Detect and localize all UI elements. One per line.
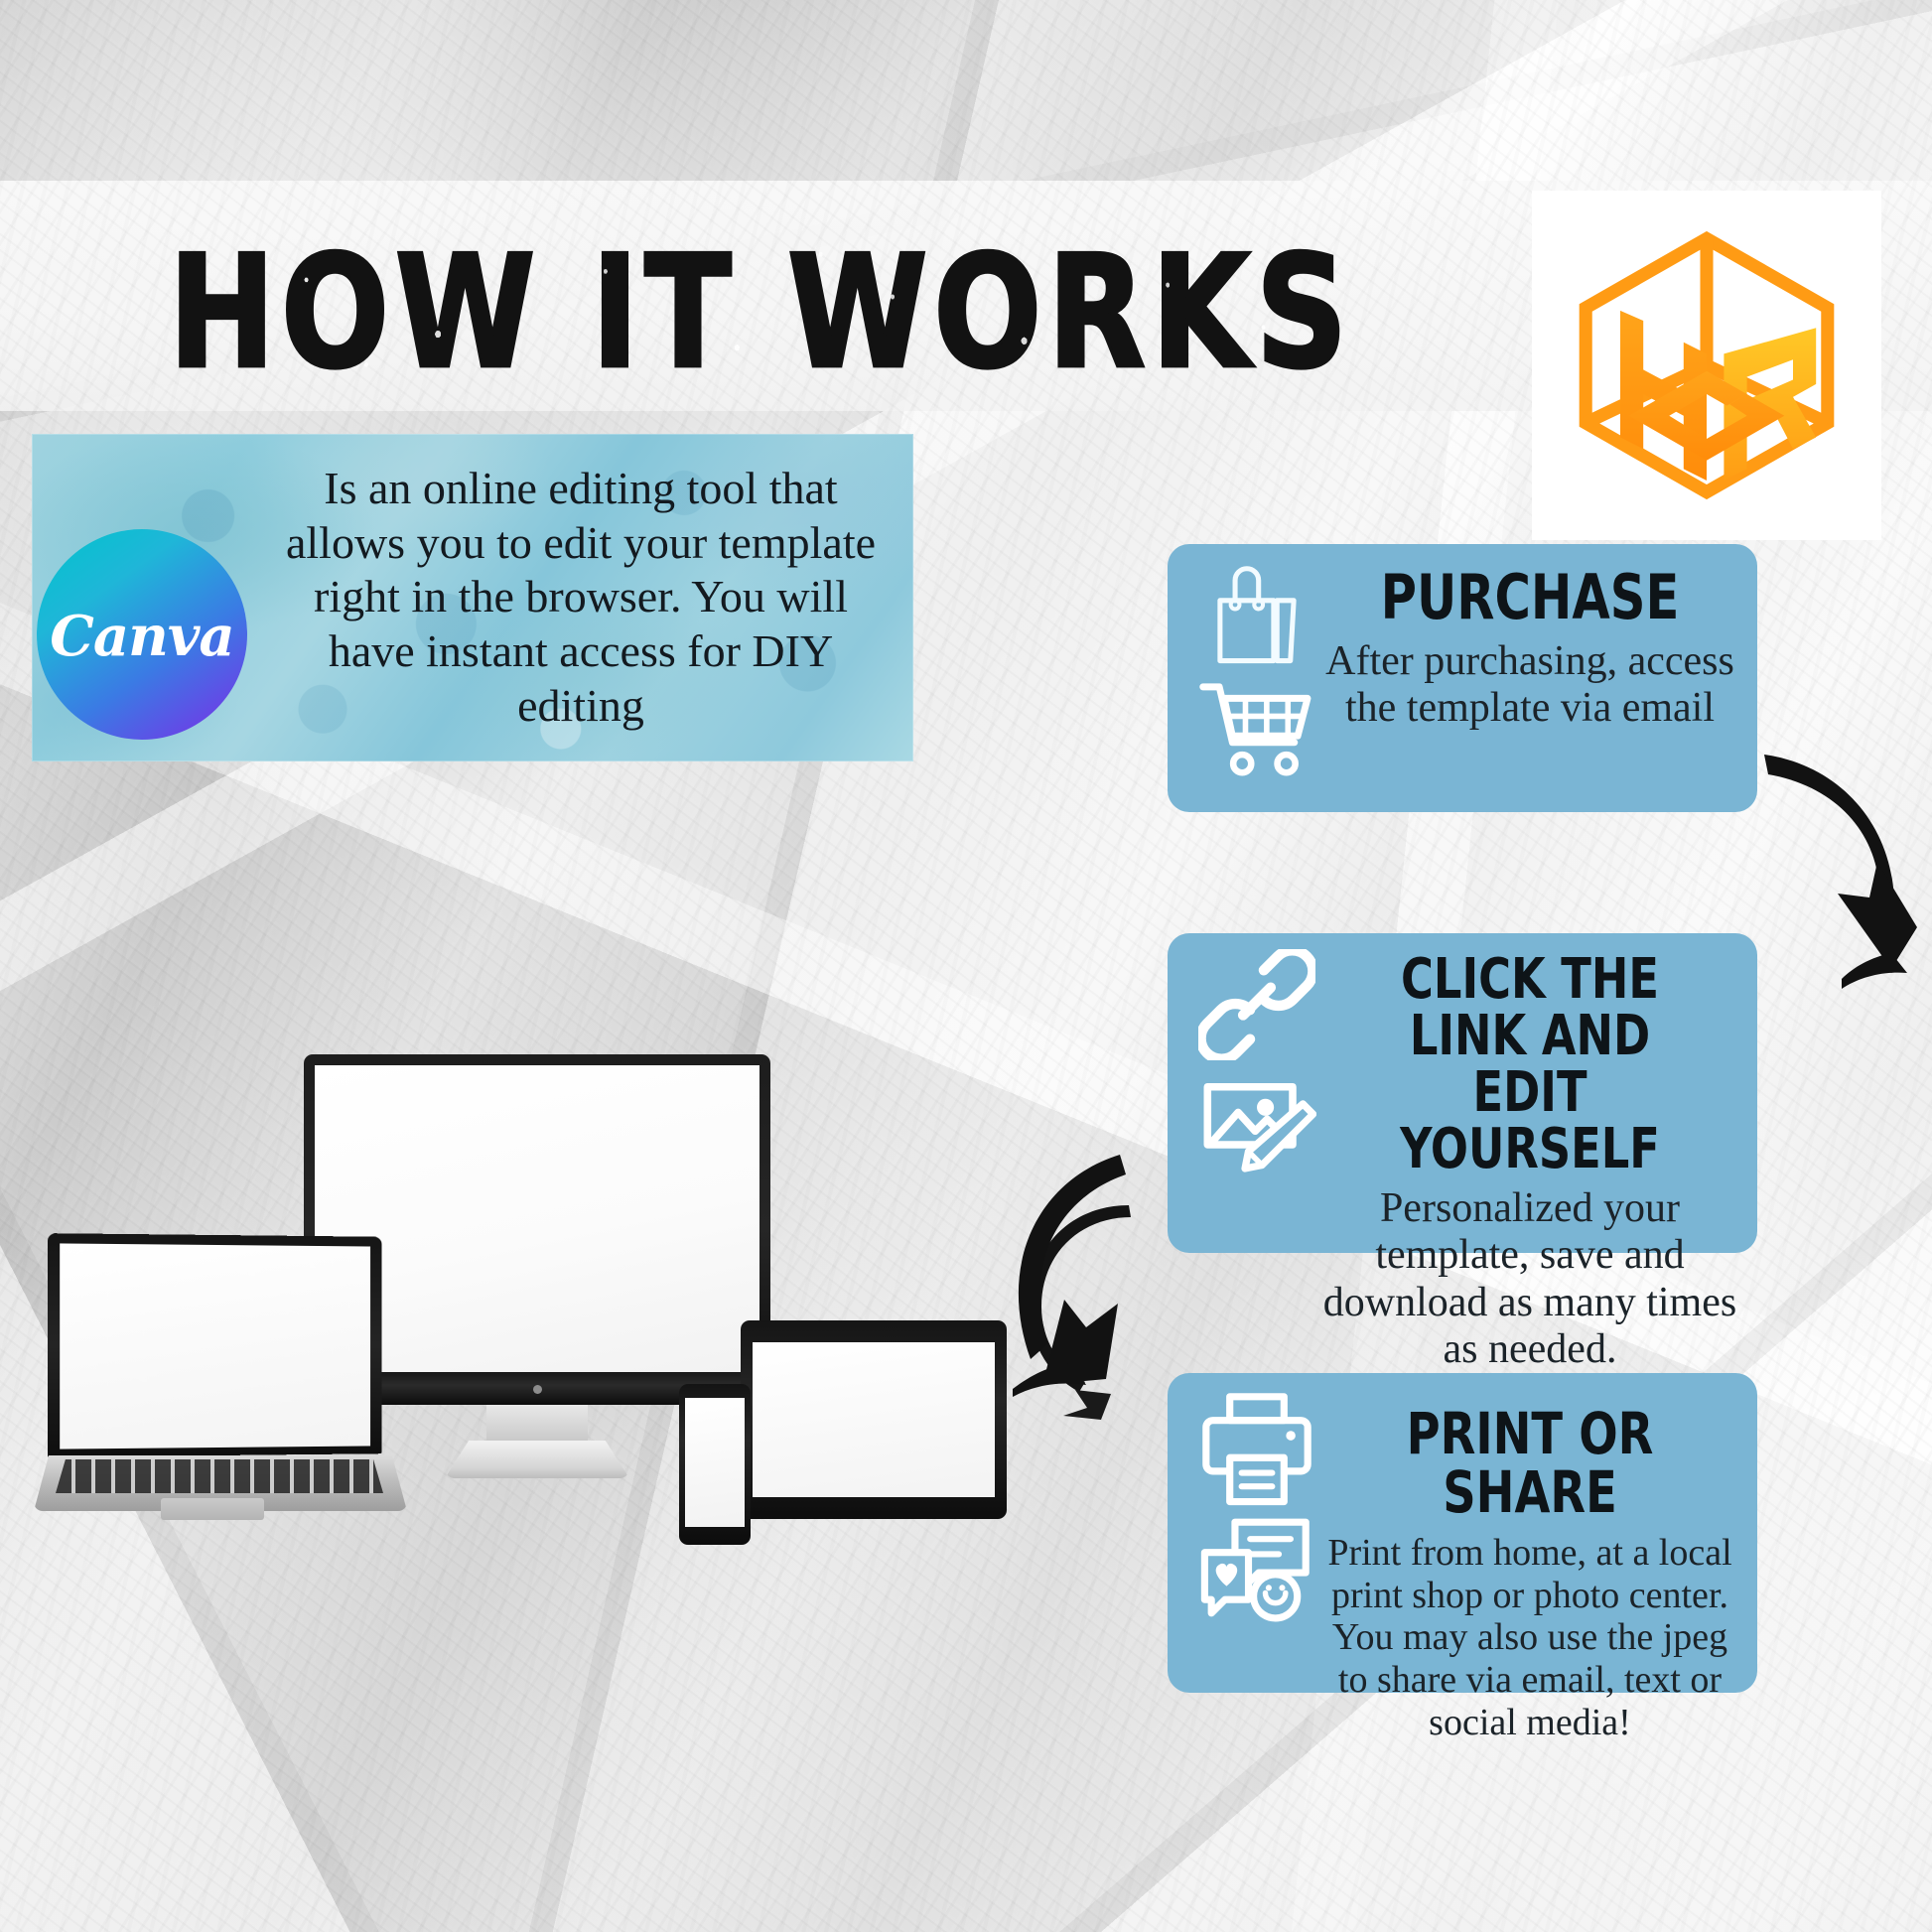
canva-info-panel: Canva Is an online editing tool that all… <box>32 434 913 761</box>
step-card-purchase: PURCHASE After purchasing, access the te… <box>1168 544 1757 812</box>
step-1-icon-group <box>1187 560 1326 778</box>
shopping-bag-icon <box>1203 560 1311 671</box>
step-2-title: CLICK THE LINK AND EDIT YOURSELF <box>1359 941 1701 1177</box>
device-mockup-group <box>34 1054 1076 1590</box>
step-2-icon-group <box>1187 949 1326 1175</box>
tablet-device <box>741 1320 1007 1519</box>
laptop-keyboard <box>56 1459 383 1493</box>
step-card-print-share: PRINT OR SHARE Print from home, at a loc… <box>1168 1373 1757 1693</box>
step-3-title: PRINT OR SHARE <box>1359 1381 1701 1522</box>
laptop-screen <box>60 1243 370 1449</box>
curved-arrow-purchase-to-edit-icon <box>1742 723 1932 1021</box>
canva-logo-badge: Canva <box>37 529 247 740</box>
laptop-device <box>48 1233 382 1457</box>
smartphone-screen <box>685 1398 745 1527</box>
page-title: HOW IT WORKS <box>169 236 1353 391</box>
infographic-canvas: HOW IT WORKS <box>0 0 1932 1932</box>
step-3-icon-group <box>1187 1389 1326 1623</box>
monitor-neck <box>486 1405 588 1441</box>
printer-icon <box>1199 1389 1314 1506</box>
canva-description: Is an online editing tool that allows yo… <box>268 462 894 734</box>
step-1-body: PURCHASE After purchasing, access the te… <box>1316 552 1743 732</box>
curved-arrow-edit-to-print-icon <box>1003 1137 1201 1435</box>
hrg-logo-tile <box>1532 191 1881 540</box>
step-1-description: After purchasing, access the template vi… <box>1316 638 1743 732</box>
canva-wordmark: Canva <box>50 604 233 669</box>
step-2-description: Personalized your template, save and dow… <box>1316 1185 1743 1372</box>
hrg-cube-logo-icon <box>1563 221 1851 509</box>
step-3-body: PRINT OR SHARE Print from home, at a loc… <box>1316 1381 1743 1743</box>
link-icon <box>1198 949 1315 1060</box>
laptop-trackpad <box>161 1498 264 1520</box>
monitor-foot <box>445 1441 629 1478</box>
social-share-icon <box>1197 1512 1316 1623</box>
smartphone-device <box>679 1384 751 1545</box>
step-3-description: Print from home, at a local print shop o… <box>1316 1532 1743 1743</box>
step-2-body: CLICK THE LINK AND EDIT YOURSELF Persona… <box>1316 941 1743 1373</box>
shopping-cart-icon <box>1199 677 1314 778</box>
image-edit-icon <box>1197 1066 1316 1175</box>
step-card-click-edit: CLICK THE LINK AND EDIT YOURSELF Persona… <box>1168 933 1757 1253</box>
step-1-title: PURCHASE <box>1359 552 1701 628</box>
tablet-screen <box>753 1342 995 1497</box>
